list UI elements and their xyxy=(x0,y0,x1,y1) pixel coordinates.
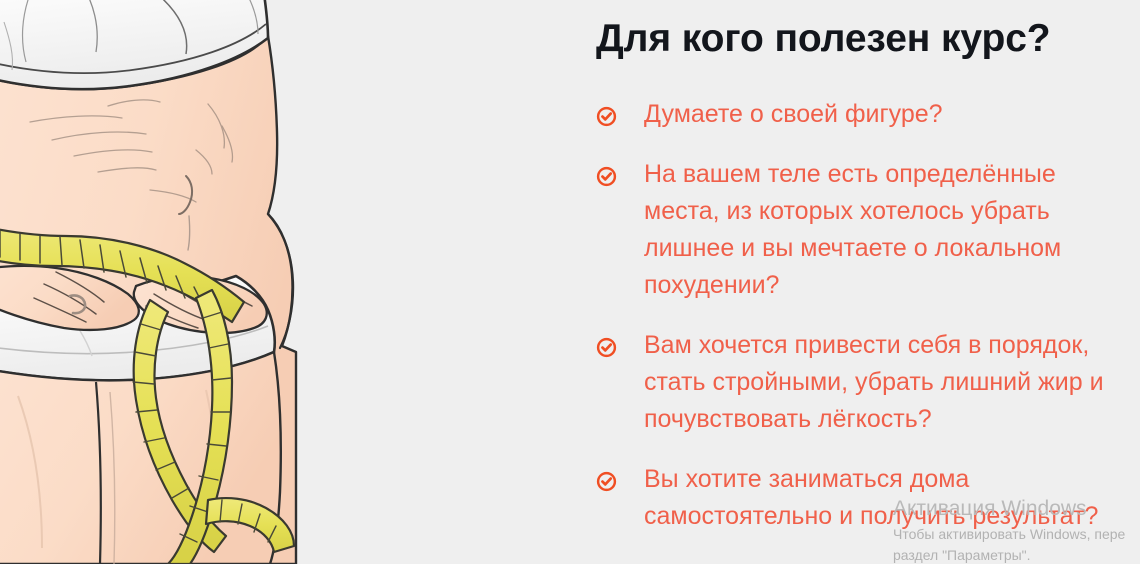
check-circle-icon xyxy=(596,471,617,492)
benefit-item-2: На вашем теле есть определённые места, и… xyxy=(596,156,1116,304)
content-column: Для кого полезен курс? Думаете о своей ф… xyxy=(596,0,1140,564)
page-root: Для кого полезен курс? Думаете о своей ф… xyxy=(0,0,1140,564)
benefit-item-label: Вам нужна конкретная пошаговая последова… xyxy=(644,558,1116,564)
check-circle-icon xyxy=(596,337,617,358)
benefit-item-1: Думаете о своей фигуре? xyxy=(596,96,1116,133)
benefit-item-label: Вам хочется привести себя в порядок, ста… xyxy=(644,327,1116,438)
check-circle-icon xyxy=(596,166,617,187)
benefit-item-3: Вам хочется привести себя в порядок, ста… xyxy=(596,327,1116,438)
page-title: Для кого полезен курс? xyxy=(596,16,1140,62)
benefit-item-4: Вы хотите заниматься дома самостоятельно… xyxy=(596,461,1116,535)
check-circle-icon xyxy=(596,106,617,127)
benefit-item-label: На вашем теле есть определённые места, и… xyxy=(644,156,1116,304)
benefit-item-5: Вам нужна конкретная пошаговая последова… xyxy=(596,558,1116,564)
hero-illustration xyxy=(0,0,300,564)
benefit-list: Думаете о своей фигуре? На вашем теле ес… xyxy=(596,96,1116,564)
benefit-item-label: Думаете о своей фигуре? xyxy=(644,96,1116,133)
benefit-item-label: Вы хотите заниматься дома самостоятельно… xyxy=(644,461,1116,535)
